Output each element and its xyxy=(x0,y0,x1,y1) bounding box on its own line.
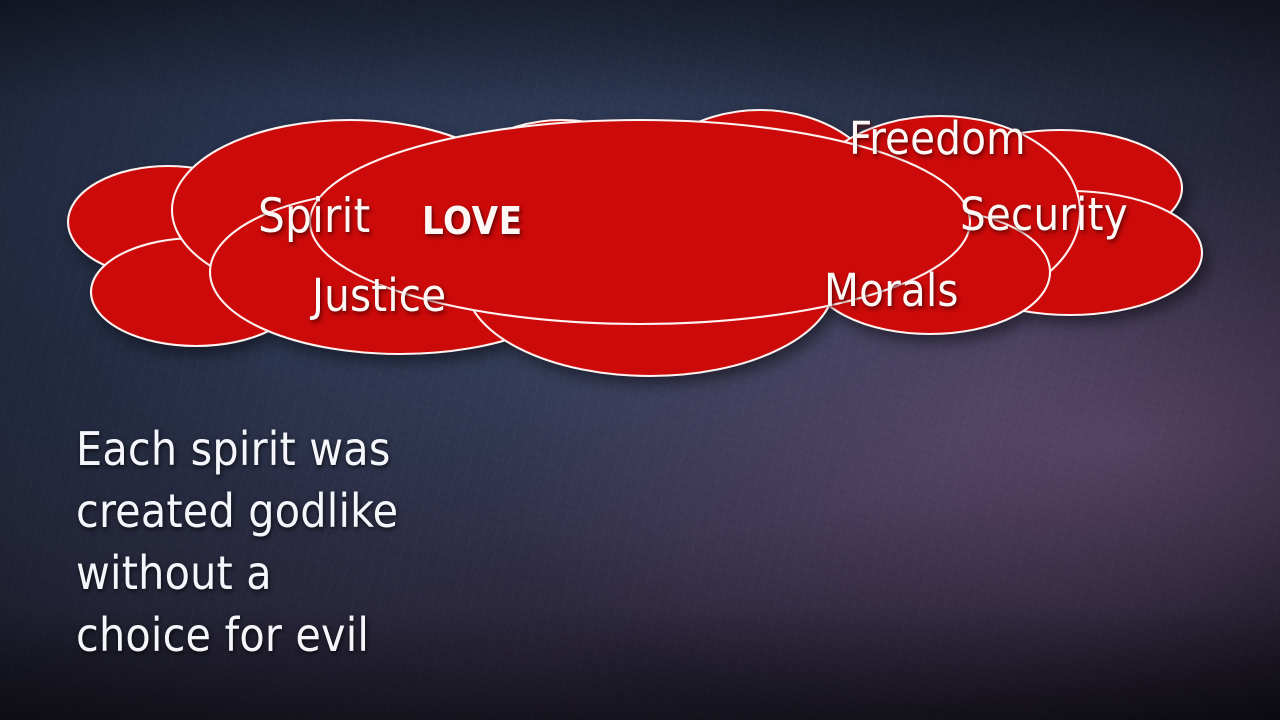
cloud-label-freedom: Freedom xyxy=(849,116,1026,161)
caption-line-3: without a xyxy=(76,542,398,604)
cloud-label-love: LOVE xyxy=(422,202,523,240)
caption-line-2: created godlike xyxy=(76,480,398,542)
cloud-label-morals: Morals xyxy=(824,268,959,313)
caption-line-4: choice for evil xyxy=(76,604,398,666)
cloud-label-justice: Justice xyxy=(312,273,446,318)
slide-canvas: .lobe { fill: #cc0a0a; stroke: #fdf2f0; … xyxy=(0,0,1280,720)
cloud-label-spirit: Spirit xyxy=(258,193,370,240)
cloud-label-security: Security xyxy=(960,192,1128,237)
cloud-lobes xyxy=(68,110,1202,376)
caption-line-1: Each spirit was xyxy=(76,418,398,480)
slide-caption: Each spirit was created godlike without … xyxy=(76,418,398,666)
